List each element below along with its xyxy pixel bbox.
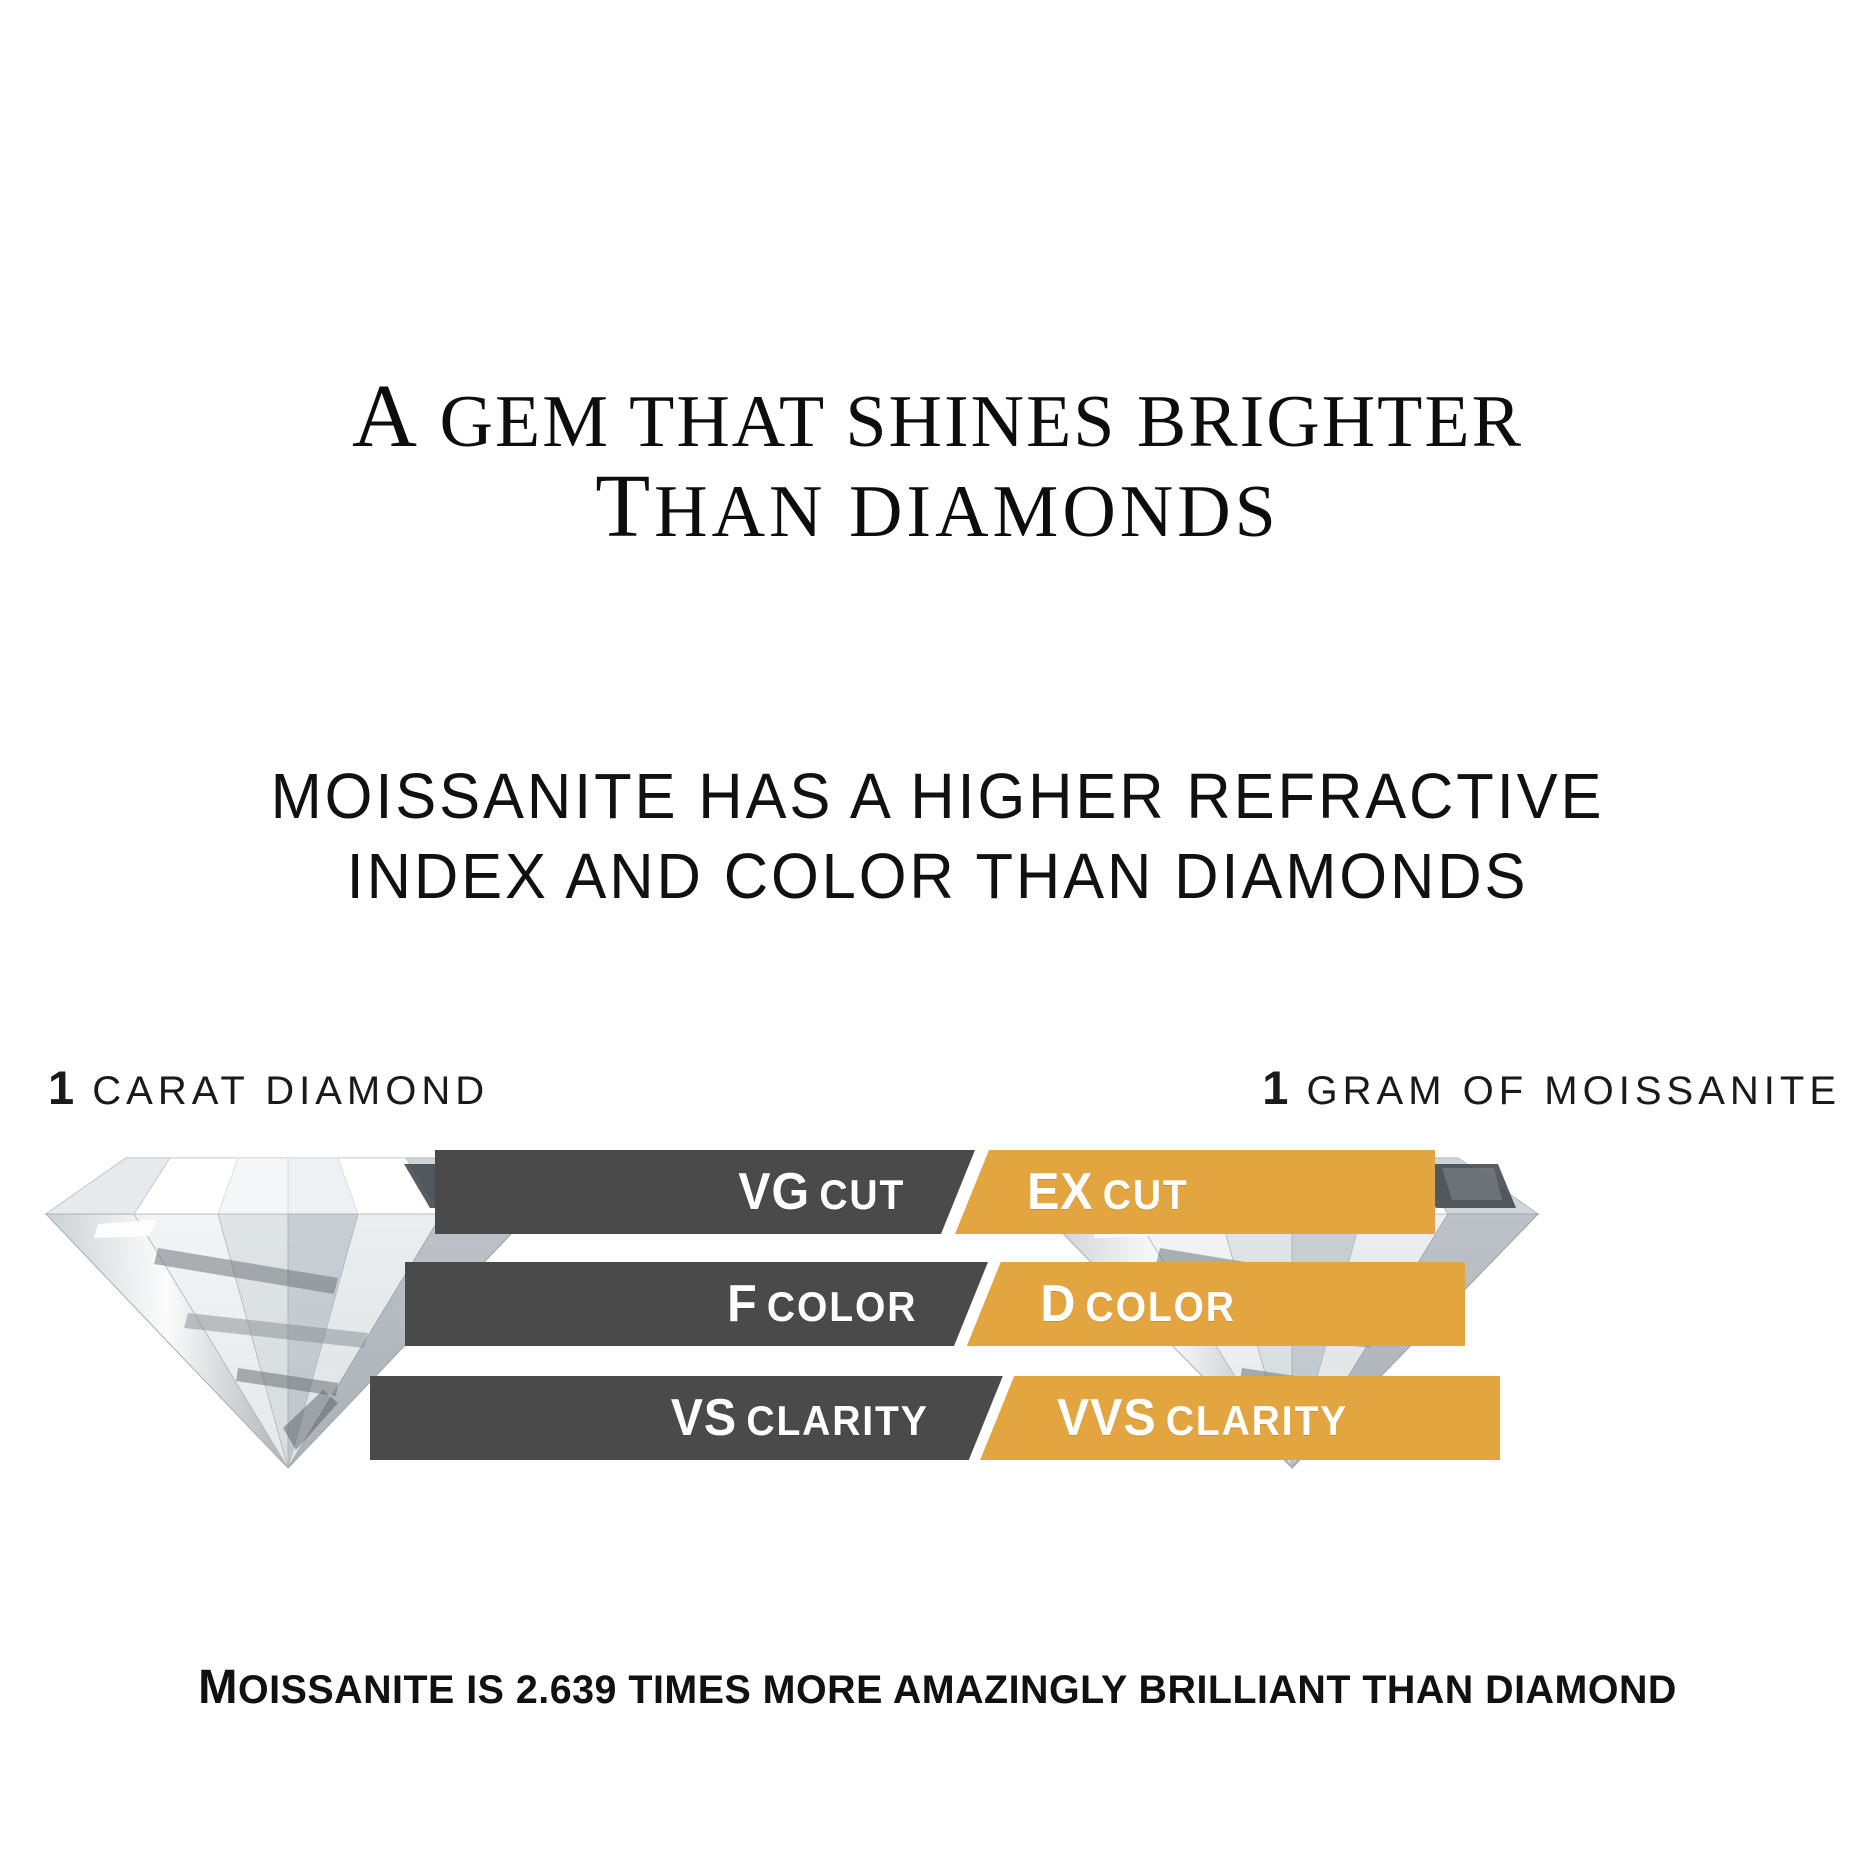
moissanite-caption-lead: 1 (1262, 1061, 1290, 1114)
moissanite-grade-cut: EX (1027, 1163, 1093, 1221)
headline-line-1-rest: GEM THAT SHINES BRIGHTER (419, 381, 1523, 463)
moissanite-grade-clarity: VVS (1057, 1389, 1157, 1447)
headline-line-1: A GEM THAT SHINES BRIGHTER (0, 374, 1875, 460)
diamond-segment-cut: VGCUT (435, 1150, 975, 1234)
diamond-grade-clarity: VS (671, 1389, 737, 1447)
footnote-caption: MOISSANITE IS 2.639 TIMES MORE AMAZINGLY… (14, 1660, 1861, 1715)
comparison-row-color: FCOLOR DCOLOR (405, 1262, 1465, 1346)
diamond-grade-color: F (727, 1275, 757, 1333)
moissanite-segment-color: DCOLOR (967, 1262, 1465, 1346)
comparison-row-clarity: VSCLARITY VVSCLARITY (370, 1376, 1500, 1460)
page-subtitle: MOISSANITE HAS A HIGHER REFRACTIVE INDEX… (38, 756, 1838, 916)
moissanite-segment-cut: EXCUT (955, 1150, 1435, 1234)
subtitle-line-1: MOISSANITE HAS A HIGHER REFRACTIVE (38, 756, 1838, 836)
moissanite-caption: 1 GRAM OF MOISSANITE (1262, 1060, 1841, 1115)
headline-line-1-initial: A (352, 367, 419, 466)
headline-line-2: THAN DIAMONDS (0, 464, 1875, 550)
moissanite-grade-color: D (1040, 1275, 1076, 1333)
comparison-bars: VGCUT EXCUT FCOLOR DCOLOR VSCLARITY (0, 1128, 1875, 1498)
headline-line-2-rest: HAN DIAMONDS (654, 471, 1280, 553)
diamond-caption-lead: 1 (48, 1061, 76, 1114)
diamond-segment-color: FCOLOR (405, 1262, 988, 1346)
headline-line-2-initial: T (595, 457, 654, 556)
comparison-section: 1 CARAT DIAMOND 1 GRAM OF MOISSANITE (0, 1060, 1875, 1520)
footnote-initial: M (198, 1661, 238, 1714)
moissanite-caption-rest: GRAM OF MOISSANITE (1290, 1069, 1841, 1113)
subtitle-line-2: INDEX AND COLOR THAN DIAMONDS (38, 836, 1838, 916)
moissanite-segment-clarity: VVSCLARITY (980, 1376, 1500, 1460)
diamond-attribute-cut: CUT (819, 1171, 905, 1218)
diamond-caption: 1 CARAT DIAMOND (48, 1060, 489, 1115)
page-title: A GEM THAT SHINES BRIGHTER THAN DIAMONDS (0, 374, 1875, 551)
infographic-canvas: A GEM THAT SHINES BRIGHTER THAN DIAMONDS… (0, 0, 1875, 1875)
comparison-row-cut: VGCUT EXCUT (435, 1150, 1435, 1234)
diamond-attribute-clarity: CLARITY (747, 1397, 929, 1444)
moissanite-attribute-cut: CUT (1103, 1171, 1189, 1218)
diamond-segment-clarity: VSCLARITY (370, 1376, 1003, 1460)
diamond-caption-rest: CARAT DIAMOND (76, 1069, 489, 1113)
moissanite-attribute-clarity: CLARITY (1166, 1397, 1348, 1444)
diamond-grade-cut: VG (738, 1163, 810, 1221)
diamond-attribute-color: COLOR (767, 1283, 917, 1330)
footnote-rest: OISSANITE IS 2.639 TIMES MORE AMAZINGLY … (238, 1668, 1677, 1712)
moissanite-attribute-color: COLOR (1085, 1283, 1235, 1330)
